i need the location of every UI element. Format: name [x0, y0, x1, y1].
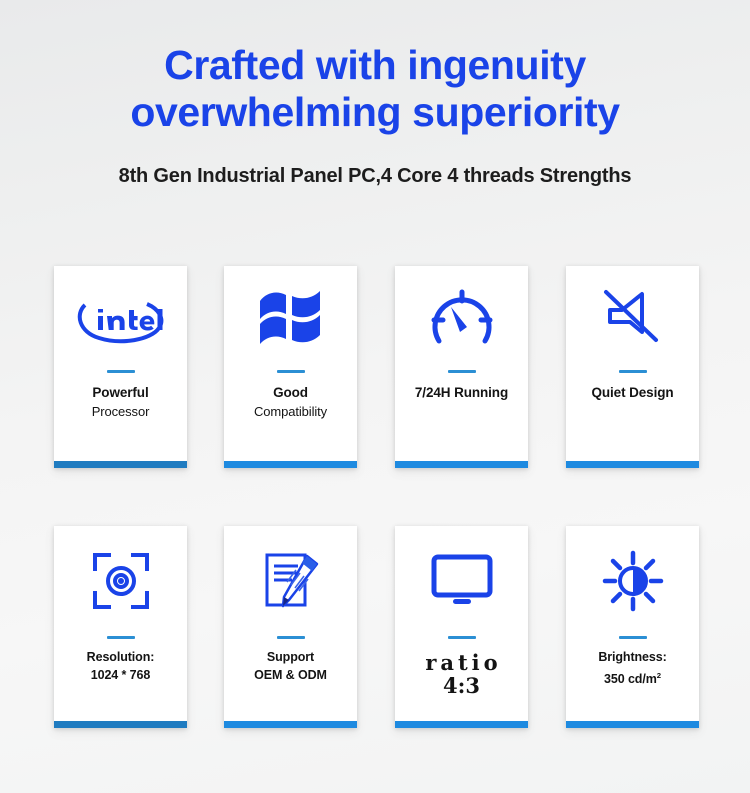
card-label-secondary: 4:3	[395, 674, 528, 697]
page-subtitle: 8th Gen Industrial Panel PC,4 Core 4 thr…	[0, 136, 750, 188]
card-labels: ratio 4:3	[395, 639, 528, 697]
card-labels: Brightness: 350 cd/m2	[566, 639, 699, 689]
card-accent-bar	[395, 461, 528, 468]
card-labels: Resolution: 1024 * 768	[54, 639, 187, 685]
intel-logo-icon	[54, 266, 187, 370]
card-accent-bar	[54, 721, 187, 728]
muted-speaker-icon	[566, 266, 699, 370]
feature-card-powerful-processor[interactable]: Powerful Processor	[54, 266, 187, 468]
card-labels: Powerful Processor	[54, 373, 187, 421]
feature-row-1: Powerful Processor	[0, 266, 750, 468]
page-title-line-2: overwhelming superiority	[0, 89, 750, 136]
card-accent-bar	[54, 461, 187, 468]
card-label-primary: Brightness:	[566, 648, 699, 666]
card-label-secondary: 350 cd/m2	[566, 666, 699, 689]
card-labels: 7/24H Running	[395, 373, 528, 402]
feature-card-quiet-design[interactable]: Quiet Design	[566, 266, 699, 468]
feature-card-ratio[interactable]: ratio 4:3	[395, 526, 528, 728]
card-label-secondary: OEM & ODM	[224, 666, 357, 685]
feature-card-724h-running[interactable]: 7/24H Running	[395, 266, 528, 468]
card-accent-bar	[224, 721, 357, 728]
card-label-primary: Quiet Design	[566, 384, 699, 402]
card-label-primary: Good	[224, 384, 357, 402]
card-labels: Support OEM & ODM	[224, 639, 357, 685]
page-title: Crafted with ingenuity overwhelming supe…	[0, 0, 750, 136]
card-label-primary: Support	[224, 648, 357, 666]
page-title-line-1: Crafted with ingenuity	[164, 42, 586, 88]
card-label-secondary: 1024 * 768	[54, 666, 187, 685]
card-label-primary: ratio	[395, 651, 528, 674]
feature-row-2: Resolution: 1024 * 768	[0, 526, 750, 728]
feature-card-grid: Powerful Processor	[0, 266, 750, 786]
card-label-primary: Resolution:	[54, 648, 187, 666]
feature-card-support[interactable]: Support OEM & ODM	[224, 526, 357, 728]
card-label-secondary: Processor	[54, 402, 187, 421]
page-header: Crafted with ingenuity overwhelming supe…	[0, 0, 750, 188]
monitor-screen-icon	[395, 526, 528, 636]
gauge-speedometer-icon	[395, 266, 528, 370]
brightness-sun-icon	[566, 526, 699, 636]
card-label-primary: 7/24H Running	[395, 384, 528, 402]
card-accent-bar	[224, 461, 357, 468]
card-labels: Good Compatibility	[224, 373, 357, 421]
feature-card-good-compatibility[interactable]: Good Compatibility	[224, 266, 357, 468]
document-pencil-icon	[224, 526, 357, 636]
brightness-unit-superscript: 2	[657, 671, 661, 680]
card-accent-bar	[566, 461, 699, 468]
card-label-secondary: Compatibility	[224, 402, 357, 421]
focus-viewfinder-icon	[54, 526, 187, 636]
promo-page: Crafted with ingenuity overwhelming supe…	[0, 0, 750, 793]
card-labels: Quiet Design	[566, 373, 699, 402]
brightness-value: 350 cd/m	[604, 672, 657, 686]
feature-card-resolution[interactable]: Resolution: 1024 * 768	[54, 526, 187, 728]
card-label-primary: Powerful	[54, 384, 187, 402]
windows-logo-icon	[224, 266, 357, 370]
feature-card-brightness[interactable]: Brightness: 350 cd/m2	[566, 526, 699, 728]
card-accent-bar	[566, 721, 699, 728]
card-accent-bar	[395, 721, 528, 728]
